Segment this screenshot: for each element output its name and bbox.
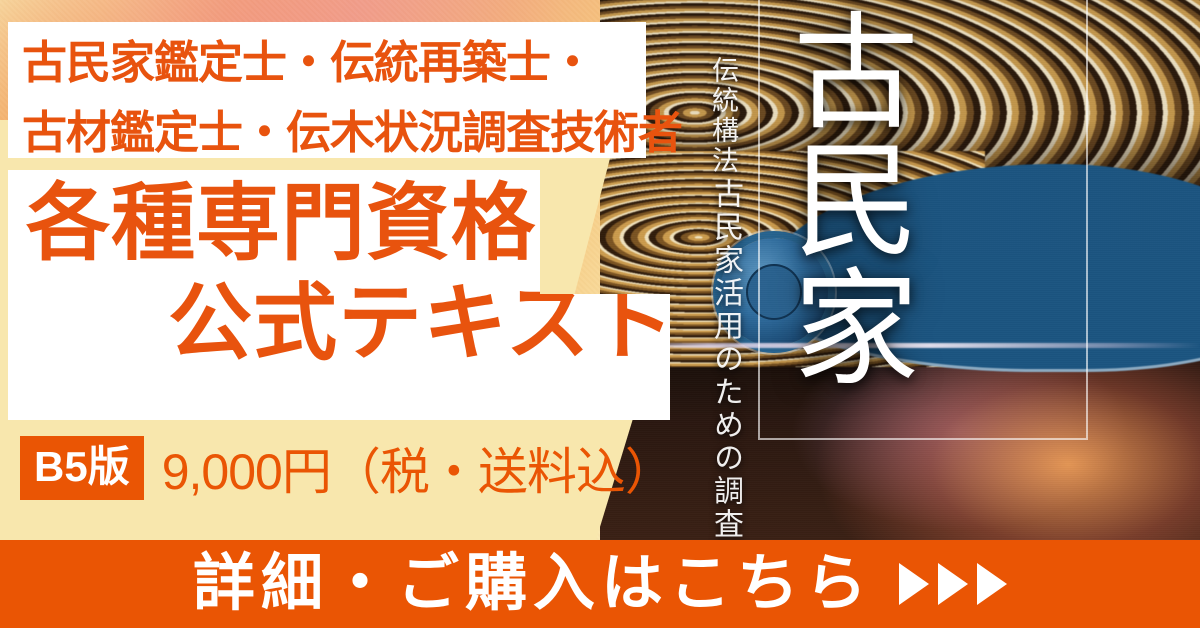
- promo-banner: 伝統構法 古民家活用のための調査と再生の 古民家 古民家鑑定士・伝統再築士・ 古…: [0, 0, 1200, 628]
- certifications-card: 古民家鑑定士・伝統再築士・ 古材鑑定士・伝木状況調査技術者: [8, 22, 646, 158]
- price-row: B5版 9,000円（税・送料込）: [20, 432, 674, 504]
- right-arrow-icon-2: [938, 563, 968, 605]
- triple-right-arrow-icon: [899, 563, 1007, 605]
- price-text: 9,000円（税・送料込）: [162, 432, 674, 504]
- cover-title: 古民家: [770, 6, 910, 390]
- size-badge: B5版: [20, 436, 144, 500]
- right-arrow-icon-1: [899, 563, 929, 605]
- certifications-line-1: 古民家鑑定士・伝統再築士・: [8, 22, 646, 92]
- right-arrow-icon-3: [977, 563, 1007, 605]
- certifications-line-2: 古材鑑定士・伝木状況調査技術者: [8, 92, 646, 162]
- headline-line-1: 各種専門資格: [26, 176, 536, 270]
- cta-label: 詳細・ご購入はこちら: [193, 553, 873, 615]
- cta-bar[interactable]: 詳細・ご購入はこちら: [0, 540, 1200, 628]
- cover-subtitle-line-1: 伝統構法: [704, 56, 743, 176]
